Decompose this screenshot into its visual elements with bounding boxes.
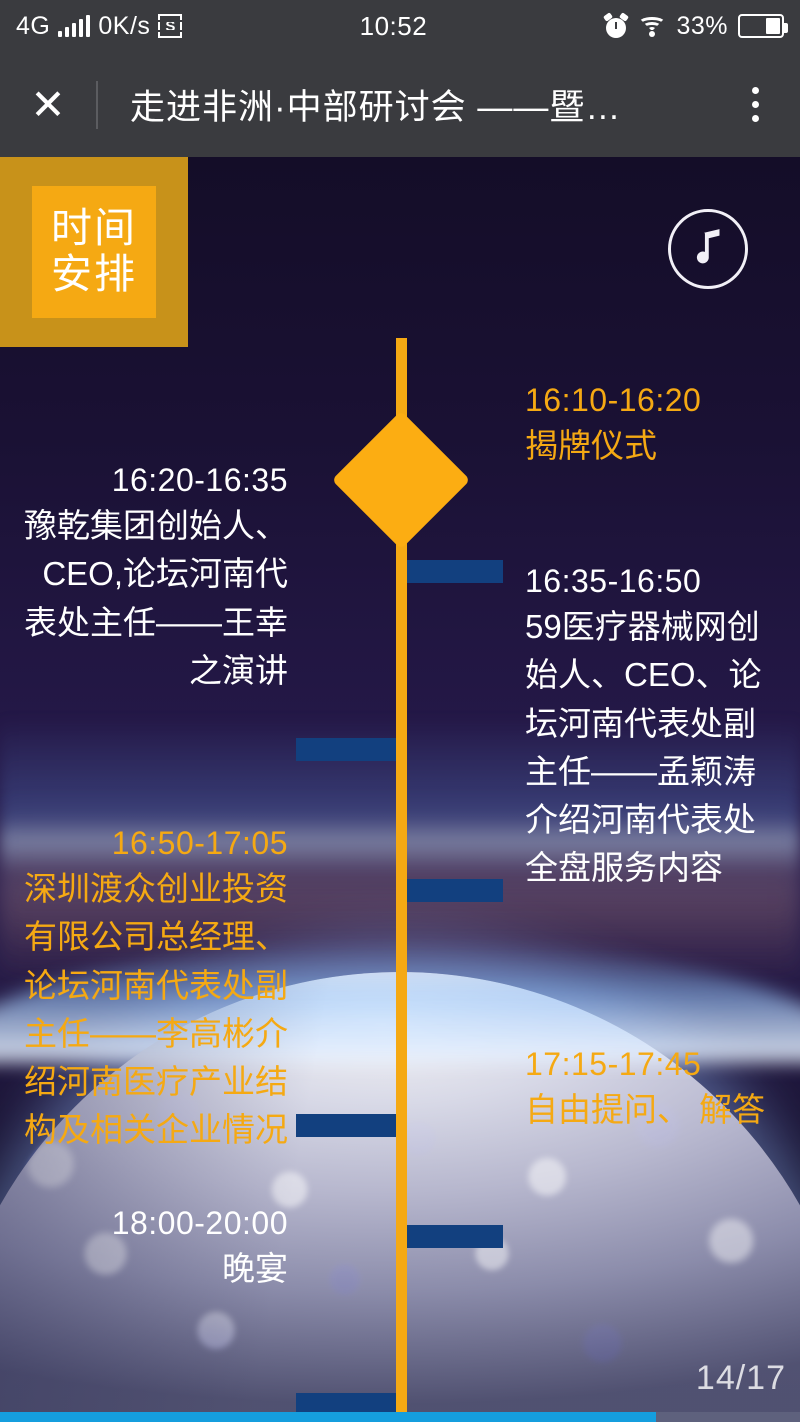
timeline-entry[interactable]: 17:15-17:45 自由提问、 解答 <box>525 1043 775 1134</box>
timeline-entry[interactable]: 16:10-16:20 揭牌仪式 <box>525 379 775 470</box>
alarm-clock-icon <box>604 14 628 38</box>
entry-time: 16:35-16:50 <box>525 560 765 603</box>
timeline-connector <box>296 1114 396 1137</box>
section-badge-inner: 时间 安排 <box>32 186 156 318</box>
timeline-entry[interactable]: 16:20-16:35 豫乾集团创始人、CEO,论坛河南代表处主任——王幸之演讲 <box>16 459 288 695</box>
app-title-bar: ✕ 走进非洲·中部研讨会 ——暨… <box>0 52 800 157</box>
timeline-connector <box>407 879 503 902</box>
entry-desc: 晚宴 <box>38 1245 288 1293</box>
entry-time: 17:15-17:45 <box>525 1043 775 1086</box>
entry-desc: 揭牌仪式 <box>525 422 775 470</box>
timeline-connector <box>407 1225 503 1248</box>
timeline-connector <box>296 738 396 761</box>
timeline-entry[interactable]: 18:00-20:00 晚宴 <box>38 1202 288 1293</box>
battery-percent-label: 33% <box>676 12 728 41</box>
data-rate-label: 0K/s <box>98 12 150 41</box>
diamond-marker-icon <box>332 411 471 550</box>
entry-time: 16:20-16:35 <box>16 459 288 502</box>
timeline-entry[interactable]: 16:35-16:50 59医疗器械网创始人、CEO、论坛河南代表处副主任——孟… <box>525 560 765 892</box>
battery-icon <box>738 14 784 38</box>
page-indicator: 14/17 <box>696 1359 786 1398</box>
timeline-entry[interactable]: 16:50-17:05 深圳渡众创业投资有限公司总经理、论坛河南代表处副主任——… <box>13 822 288 1154</box>
status-bar-right: 33% <box>604 12 800 41</box>
sogou-input-icon: S <box>158 14 182 38</box>
music-note-icon[interactable] <box>668 209 748 289</box>
phone-screen: 4G 0K/s S 10:52 33% ✕ 走进非洲·中部研讨会 ——暨… <box>0 0 800 1422</box>
timeline-connector <box>407 560 503 583</box>
entry-desc: 59医疗器械网创始人、CEO、论坛河南代表处副主任——孟颖涛介绍河南代表处全盘服… <box>525 603 765 892</box>
more-options-button[interactable] <box>710 52 800 157</box>
slide-canvas[interactable]: 时间 安排 16:10-16:20 揭牌仪式 16:20-16:35 豫乾集团创… <box>0 157 800 1422</box>
status-bar-center: 10:52 <box>182 11 604 42</box>
signal-bars-icon <box>58 15 90 37</box>
status-bar: 4G 0K/s S 10:52 33% <box>0 0 800 52</box>
entry-desc: 自由提问、 解答 <box>525 1086 775 1134</box>
wifi-icon <box>638 15 666 37</box>
section-badge-line1: 时间 <box>51 206 137 252</box>
section-badge-line2: 安排 <box>51 252 137 298</box>
slide-progress-bar[interactable] <box>0 1412 800 1422</box>
entry-time: 16:50-17:05 <box>13 822 288 865</box>
entry-desc: 深圳渡众创业投资有限公司总经理、论坛河南代表处副主任——李高彬介绍河南医疗产业结… <box>13 865 288 1154</box>
close-button[interactable]: ✕ <box>0 52 96 157</box>
slide-progress-fill <box>0 1412 656 1422</box>
entry-time: 18:00-20:00 <box>38 1202 288 1245</box>
entry-desc: 豫乾集团创始人、CEO,论坛河南代表处主任——王幸之演讲 <box>16 502 288 695</box>
status-bar-left: 4G 0K/s S <box>0 12 182 41</box>
entry-time: 16:10-16:20 <box>525 379 775 422</box>
page-title: 走进非洲·中部研讨会 ——暨… <box>98 79 710 130</box>
network-type-label: 4G <box>16 12 50 41</box>
section-badge: 时间 安排 <box>0 157 188 347</box>
status-bar-clock: 10:52 <box>360 11 428 42</box>
